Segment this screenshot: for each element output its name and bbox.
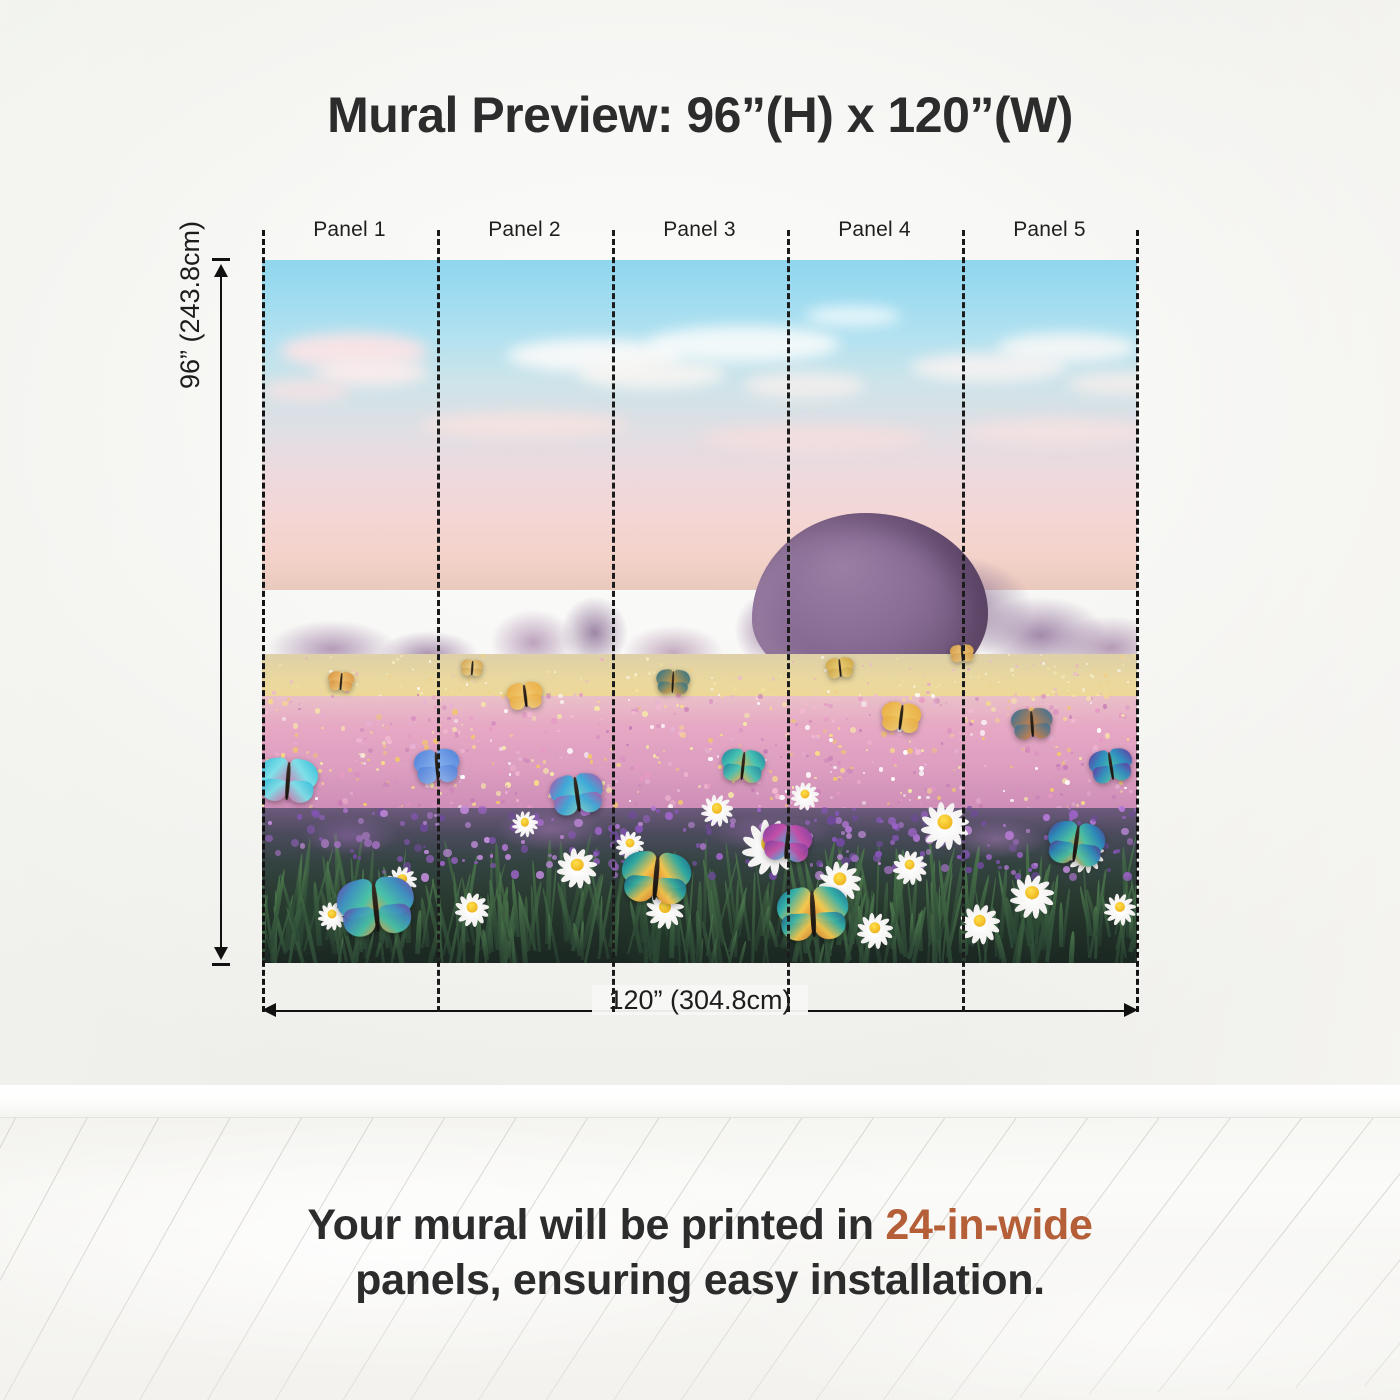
purple-bloom — [1009, 844, 1017, 852]
purple-bloom — [343, 808, 349, 814]
flower-speck — [566, 756, 569, 759]
meadow-speck — [967, 668, 970, 671]
flower-speck — [891, 777, 895, 781]
flower-speck — [600, 718, 602, 720]
flower-speck — [1072, 802, 1076, 806]
flower-speck — [1062, 761, 1065, 764]
meadow-speck — [633, 674, 637, 678]
grass-blade — [710, 870, 724, 946]
flower-speck — [900, 799, 903, 802]
grass-blade — [498, 872, 520, 963]
meadow-speck — [386, 673, 388, 675]
flower-speck — [909, 740, 911, 742]
flower-speck — [606, 730, 609, 733]
purple-bloom — [423, 821, 427, 825]
grass-blade — [909, 874, 918, 954]
cloud — [962, 419, 1137, 445]
meadow-speck — [355, 672, 359, 676]
flower-speck — [775, 744, 778, 747]
meadow-speck — [466, 683, 469, 686]
purple-bloom — [1122, 816, 1125, 819]
flower-speck — [1008, 700, 1011, 703]
meadow-speck — [1033, 664, 1035, 666]
meadow-speck — [815, 690, 817, 692]
panel-divider-2 — [612, 230, 615, 1012]
grass-blade — [275, 894, 295, 959]
flower-speck — [982, 737, 985, 740]
purple-bloom — [656, 809, 659, 812]
meadow-speck — [467, 677, 471, 681]
meadow-speck — [1015, 665, 1018, 668]
flower-speck — [1055, 746, 1058, 749]
purple-bloom — [1031, 863, 1038, 870]
flower-speck — [406, 802, 411, 807]
flower-speck — [363, 803, 367, 807]
grass-blade — [909, 913, 913, 944]
meadow-speck — [420, 692, 424, 696]
meadow-speck — [547, 671, 550, 674]
purple-bloom — [665, 812, 673, 820]
grass-blade — [1068, 931, 1075, 963]
flower-speck — [1048, 794, 1053, 799]
panel-divider-right-edge — [1136, 230, 1139, 1012]
meadow-speck — [926, 691, 930, 695]
flower-speck — [1011, 698, 1017, 704]
meadow-speck — [445, 688, 448, 691]
grass-blade — [703, 837, 708, 935]
flower-speck — [919, 766, 924, 771]
meadow-speck — [1127, 681, 1129, 683]
flower-speck — [293, 723, 298, 728]
grass-blade — [707, 885, 720, 963]
width-label-wrap: 120” (304.8cm) — [0, 985, 1400, 1016]
purple-bloom — [986, 854, 992, 860]
flower-speck — [707, 783, 712, 788]
purple-bloom — [706, 829, 712, 835]
daisy-flower — [454, 889, 490, 925]
flower-speck — [790, 753, 793, 756]
grass-blade — [571, 890, 585, 951]
cloud — [743, 372, 866, 398]
flower-speck — [298, 708, 300, 710]
purple-bloom — [757, 808, 761, 812]
purple-bloom — [1132, 843, 1135, 846]
grass-blade — [728, 931, 738, 963]
butterfly — [656, 669, 691, 695]
flower-speck — [630, 766, 634, 770]
flower-speck — [497, 769, 501, 773]
flower-speck — [519, 803, 523, 807]
butterfly-wing-lower-right — [815, 911, 847, 939]
flower-speck — [635, 707, 640, 712]
flower-speck — [832, 719, 835, 722]
meadow-speck — [670, 664, 672, 666]
flower-speck — [658, 761, 661, 764]
flower-speck — [567, 748, 573, 754]
grass-blade — [941, 864, 954, 963]
flower-speck — [1129, 790, 1132, 793]
meadow-speck — [1067, 681, 1070, 684]
grass-blade — [490, 850, 494, 948]
daisy-center — [625, 839, 634, 848]
meadow-speck — [899, 684, 902, 687]
flower-speck — [360, 728, 364, 732]
purple-bloom — [908, 828, 916, 836]
grass-blade — [511, 878, 520, 937]
grass-blade — [1094, 879, 1101, 959]
grass-blade — [696, 881, 702, 963]
meadow-speck — [305, 657, 308, 660]
flower-speck — [932, 748, 937, 753]
flower-speck — [490, 790, 493, 793]
purple-bloom — [1127, 838, 1133, 844]
meadow-speck — [716, 690, 718, 692]
grass-blade — [734, 879, 740, 957]
butterfly — [879, 700, 922, 733]
flower-speck — [391, 765, 394, 768]
flower-speck — [354, 772, 359, 777]
flower-speck — [847, 728, 849, 730]
meadow-speck — [488, 690, 491, 693]
grass-blade — [494, 843, 504, 940]
cloud — [647, 326, 840, 362]
grass-blade — [424, 884, 444, 953]
flower-speck — [708, 757, 712, 761]
flower-speck — [447, 717, 451, 721]
mural-preview[interactable] — [262, 260, 1137, 963]
flower-speck — [751, 788, 755, 792]
meadow-speck — [412, 669, 414, 671]
flower-speck — [756, 792, 759, 795]
meadow-speck — [1004, 678, 1006, 680]
purple-bloom — [1034, 863, 1037, 866]
flower-speck — [579, 693, 583, 697]
flower-speck — [1035, 767, 1038, 770]
purple-bloom — [845, 826, 852, 833]
flower-speck — [1124, 787, 1126, 789]
purple-bloom — [364, 839, 372, 847]
grass-blade — [487, 925, 491, 954]
cloud — [1067, 372, 1137, 395]
flower-speck — [386, 727, 388, 729]
flower-speck — [823, 729, 827, 733]
butterfly-wing-lower-left — [658, 681, 673, 694]
grass-blade — [517, 891, 536, 951]
purple-bloom — [1113, 850, 1117, 854]
grass-blade — [597, 880, 614, 959]
flower-speck — [664, 705, 667, 708]
flower-speck — [1071, 719, 1075, 723]
flower-speck — [442, 705, 447, 710]
meadow-speck — [913, 685, 916, 688]
meadow-speck — [998, 681, 1000, 683]
meadow-speck — [473, 681, 476, 684]
flower-speck — [534, 780, 540, 786]
flower-speck — [1064, 760, 1066, 762]
flower-speck — [318, 752, 321, 755]
purple-bloom — [1129, 812, 1135, 818]
butterfly-wing-lower-left — [329, 680, 341, 691]
meadow-speck — [772, 688, 776, 692]
caption: Your mural will be printed in 24-in-wide… — [0, 1198, 1400, 1308]
meadow-speck — [635, 673, 637, 675]
meadow-speck — [989, 683, 992, 686]
grass-blade — [752, 882, 771, 952]
meadow-speck — [952, 669, 955, 672]
purple-bloom — [423, 845, 426, 848]
meadow-speck — [417, 687, 420, 690]
grass-blade — [694, 910, 702, 954]
flower-speck — [830, 764, 832, 766]
flower-speck — [1119, 781, 1123, 785]
flower-speck — [510, 765, 515, 770]
flower-speck — [525, 759, 530, 764]
purple-bloom — [397, 856, 404, 863]
grass-blade — [542, 887, 561, 963]
purple-bloom — [852, 815, 858, 821]
meadow-speck — [1073, 672, 1077, 676]
flower-speck — [557, 714, 562, 719]
grass-blade — [937, 859, 953, 963]
flower-speck — [1067, 706, 1071, 710]
flower-speck — [390, 723, 393, 726]
meadow-speck — [927, 683, 931, 687]
panel-divider-left-edge — [262, 230, 265, 1012]
grass-blade — [928, 847, 957, 946]
flower-speck — [294, 741, 297, 744]
meadow-speck — [954, 681, 956, 683]
butterfly-wing-lower-right — [840, 666, 853, 678]
panel-label-2: Panel 2 — [437, 218, 612, 242]
purple-bloom — [716, 853, 723, 860]
flower-speck — [1067, 748, 1071, 752]
meadow-speck — [939, 684, 941, 686]
meadow-speck — [1067, 690, 1069, 692]
flower-speck — [824, 703, 828, 707]
purple-bloom — [356, 835, 363, 842]
flower-speck — [418, 803, 421, 806]
flower-speck — [770, 707, 773, 710]
grass-blade — [293, 864, 303, 941]
flower-speck — [428, 718, 432, 722]
purple-bloom — [421, 873, 429, 881]
purple-bloom — [502, 844, 509, 851]
meadow-speck — [1094, 669, 1098, 673]
purple-bloom — [1091, 815, 1098, 822]
grass-blade — [580, 874, 603, 951]
purple-bloom — [350, 849, 354, 853]
purple-bloom — [846, 833, 853, 840]
width-label: 120” (304.8cm) — [592, 985, 807, 1015]
grass-blade — [927, 864, 935, 963]
flower-speck — [491, 721, 497, 727]
grass-blade — [925, 879, 931, 939]
daisy-center — [328, 909, 337, 918]
cloud — [262, 379, 350, 402]
flower-speck — [921, 749, 924, 752]
flower-speck — [1034, 751, 1039, 756]
grass-blade — [766, 890, 771, 939]
purple-bloom — [888, 817, 896, 825]
flower-speck — [615, 780, 618, 783]
flower-speck — [385, 736, 390, 741]
meadow-speck — [272, 691, 276, 695]
flower-speck — [862, 801, 866, 805]
meadow-speck — [1026, 666, 1028, 668]
flower-speck — [1065, 780, 1070, 785]
meadow-speck — [653, 671, 656, 674]
purple-bloom — [275, 850, 281, 856]
purple-bloom — [688, 822, 694, 828]
flower-speck — [806, 772, 811, 777]
flower-speck — [522, 712, 527, 717]
meadow-speck — [1099, 684, 1103, 688]
flower-speck — [1026, 746, 1030, 750]
grass-blade — [684, 914, 692, 947]
purple-bloom — [873, 854, 881, 862]
flower-speck — [477, 740, 480, 743]
grass-blade — [756, 865, 771, 963]
purple-bloom — [353, 854, 357, 858]
flower-speck — [326, 778, 329, 781]
flower-speck — [329, 769, 332, 772]
meadow-speck — [1029, 668, 1031, 670]
meadow-speck — [330, 656, 333, 659]
mural-artwork — [262, 260, 1137, 963]
flower-speck — [806, 755, 808, 757]
meadow-speck — [1042, 662, 1045, 665]
purple-bloom — [1005, 831, 1014, 840]
flower-speck — [941, 742, 943, 744]
purple-bloom — [536, 871, 543, 878]
grass-blade — [510, 928, 516, 963]
flower-speck — [1035, 795, 1040, 800]
flower-speck — [407, 734, 411, 738]
purple-bloom — [1017, 852, 1023, 858]
flower-speck — [366, 721, 372, 727]
flower-speck — [1024, 797, 1028, 801]
flower-speck — [881, 731, 887, 737]
flower-speck — [952, 788, 956, 792]
flower-speck — [339, 772, 345, 778]
flower-speck — [830, 771, 832, 773]
flower-speck — [376, 768, 379, 771]
flower-speck — [828, 704, 832, 708]
flower-speck — [1097, 728, 1101, 732]
meadow-speck — [579, 671, 581, 673]
flower-speck — [382, 724, 385, 727]
purple-bloom — [628, 811, 636, 819]
purple-bloom — [460, 806, 469, 815]
purple-bloom — [372, 841, 380, 849]
purple-bloom — [821, 807, 828, 814]
flower-speck — [481, 783, 486, 788]
flower-speck — [407, 722, 411, 726]
grass-blade — [294, 853, 303, 944]
meadow-speck — [1053, 671, 1057, 675]
flower-speck — [690, 747, 693, 750]
purple-bloom — [489, 837, 496, 844]
purple-bloom — [941, 864, 950, 873]
grass-blade — [447, 920, 460, 963]
flower-speck — [410, 744, 416, 750]
flower-speck — [861, 701, 867, 707]
flower-speck — [684, 772, 688, 776]
flower-speck — [676, 768, 679, 771]
flower-speck — [800, 708, 805, 713]
purple-bloom — [965, 867, 971, 873]
flower-speck — [779, 795, 785, 801]
flower-speck — [355, 760, 357, 762]
purple-bloom — [551, 818, 554, 821]
flower-speck — [1076, 804, 1079, 807]
flower-speck — [805, 725, 809, 729]
purple-bloom — [404, 839, 410, 845]
flower-speck — [847, 768, 853, 774]
flower-speck — [769, 770, 773, 774]
flower-speck — [381, 761, 385, 765]
grass-blade — [497, 872, 502, 949]
flower-speck — [991, 707, 996, 712]
flower-speck — [674, 713, 676, 715]
flower-speck — [782, 702, 787, 707]
purple-bloom — [1116, 849, 1121, 854]
flower-speck — [668, 762, 671, 765]
meadow-speck — [320, 690, 322, 692]
flower-speck — [676, 704, 679, 707]
meadow-speck — [1104, 673, 1108, 677]
meadow-speck — [600, 658, 604, 662]
purple-bloom — [1003, 824, 1007, 828]
purple-bloom — [832, 837, 837, 842]
height-line — [220, 266, 222, 958]
flower-speck — [321, 714, 325, 718]
baseboard — [0, 1085, 1400, 1118]
meadow-speck — [356, 683, 358, 685]
flower-speck — [590, 760, 593, 763]
flower-speck — [815, 751, 820, 756]
purple-bloom — [892, 823, 897, 828]
flower-speck — [795, 723, 798, 726]
flower-speck — [1063, 765, 1067, 769]
flower-speck — [606, 787, 612, 793]
flower-speck — [295, 733, 298, 736]
meadow-speck — [429, 660, 431, 662]
flower-speck — [709, 699, 714, 704]
purple-bloom — [291, 839, 299, 847]
flower-speck — [981, 720, 987, 726]
caption-line-1: Your mural will be printed in 24-in-wide — [0, 1198, 1400, 1253]
flower-speck — [353, 790, 357, 794]
flower-speck — [642, 711, 648, 717]
meadow-speck — [1090, 674, 1093, 677]
flower-speck — [321, 727, 323, 729]
meadow-speck — [1052, 690, 1054, 692]
grass-blade — [706, 913, 714, 956]
meadow-speck — [956, 664, 958, 666]
flower-speck — [348, 768, 352, 772]
purple-bloom — [971, 810, 978, 817]
flower-speck — [1063, 717, 1067, 721]
grass-blade — [907, 909, 924, 959]
flower-speck — [518, 757, 522, 761]
flower-speck — [1007, 714, 1009, 716]
meadow-speck — [989, 660, 992, 663]
butterfly-wing-lower-left — [882, 714, 900, 731]
purple-bloom — [911, 814, 919, 822]
flower-speck — [315, 708, 321, 714]
meadow-speck — [1053, 688, 1056, 691]
